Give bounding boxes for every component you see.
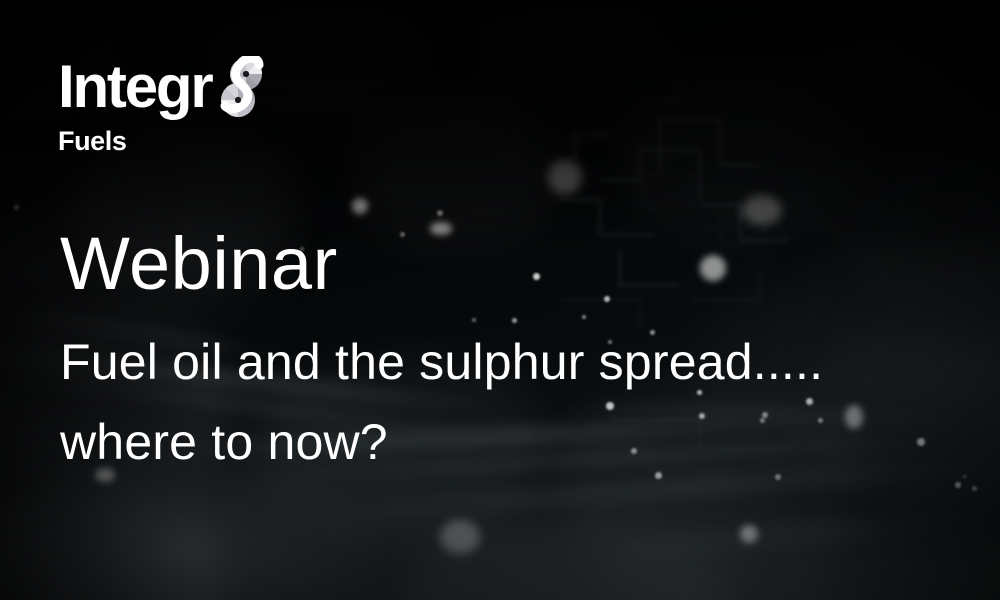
webinar-title-slide: Integr xyxy=(0,0,1000,600)
subtitle-line-1: Fuel oil and the sulphur spread..... xyxy=(60,322,990,402)
title-block: Webinar Fuel oil and the sulphur spread.… xyxy=(60,222,990,482)
page-title: Webinar xyxy=(60,222,990,306)
integr8-eight-mark-icon xyxy=(212,56,272,123)
integr8-fuels-logo[interactable]: Integr xyxy=(58,58,288,156)
subtitle-line-2: where to now? xyxy=(60,402,990,482)
logo-wordmark-text: Integr xyxy=(58,58,211,116)
logo-wordmark-row: Integr xyxy=(58,58,288,123)
logo-subtitle-text: Fuels xyxy=(58,126,288,156)
